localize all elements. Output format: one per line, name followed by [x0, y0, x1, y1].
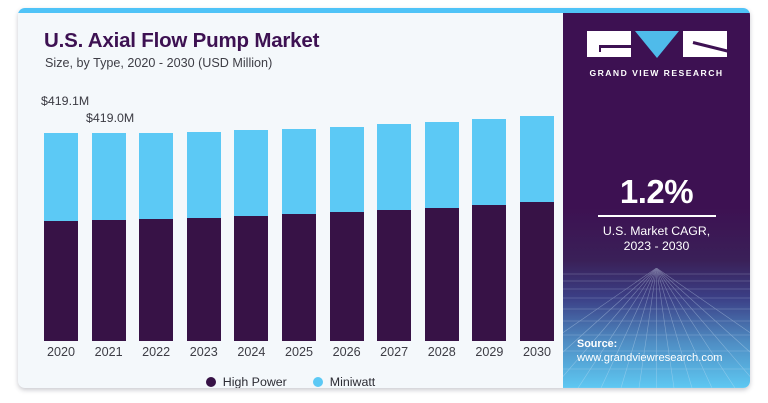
- brand-panel: GRAND VIEW RESEARCH 1.2% U.S. Market CAG…: [563, 13, 750, 388]
- legend-label: High Power: [223, 375, 287, 388]
- bar-segment-miniwatt-2023[interactable]: [187, 132, 221, 218]
- bar-segment-miniwatt-2022[interactable]: [139, 133, 173, 219]
- cagr-caption-line1: U.S. Market CAGR,: [563, 224, 750, 240]
- bar-segment-high-power-2021[interactable]: [92, 220, 126, 341]
- bar-segment-miniwatt-2021[interactable]: [92, 133, 126, 220]
- chart-title: U.S. Axial Flow Pump Market: [44, 29, 319, 53]
- legend-dot-icon: [313, 377, 323, 387]
- bar-segment-high-power-2022[interactable]: [139, 219, 173, 341]
- x-tick-label-2023: 2023: [182, 345, 226, 359]
- perspective-grid-decoration: [563, 268, 750, 388]
- cagr-divider: [598, 215, 716, 217]
- value-label-2020: $419.1M: [41, 94, 89, 108]
- bar-2022[interactable]: [139, 133, 173, 341]
- bar-segment-miniwatt-2028[interactable]: [425, 122, 459, 208]
- x-tick-label-2027: 2027: [372, 345, 416, 359]
- bar-segment-high-power-2029[interactable]: [472, 205, 506, 341]
- x-tick-label-2030: 2030: [515, 345, 559, 359]
- bar-2030[interactable]: [520, 116, 554, 341]
- infographic-card: U.S. Axial Flow Pump Market Size, by Typ…: [18, 8, 750, 388]
- logo-v-triangle-icon: [635, 31, 679, 58]
- bar-segment-miniwatt-2020[interactable]: [44, 133, 78, 220]
- bar-2028[interactable]: [425, 122, 459, 341]
- chart-panel: U.S. Axial Flow Pump Market Size, by Typ…: [18, 13, 563, 388]
- chart-plot-area: [44, 113, 554, 341]
- source-label: Source:: [577, 337, 723, 351]
- logo-r-mark-icon: [683, 31, 727, 57]
- x-axis-tick-labels: 2020202120222023202420252026202720282029…: [44, 345, 554, 365]
- bar-segment-miniwatt-2025[interactable]: [282, 129, 316, 215]
- legend-item-high-power[interactable]: High Power: [206, 375, 287, 388]
- x-tick-label-2024: 2024: [229, 345, 273, 359]
- x-tick-label-2021: 2021: [87, 345, 131, 359]
- bar-2027[interactable]: [377, 124, 411, 341]
- grand-view-research-logo: GRAND VIEW RESEARCH: [563, 31, 750, 78]
- chart-subtitle: Size, by Type, 2020 - 2030 (USD Million): [45, 56, 272, 70]
- logo-marks: [563, 31, 750, 61]
- x-tick-label-2025: 2025: [277, 345, 321, 359]
- bar-segment-high-power-2027[interactable]: [377, 210, 411, 341]
- bar-2024[interactable]: [234, 130, 268, 341]
- bar-segment-miniwatt-2029[interactable]: [472, 119, 506, 205]
- legend-label: Miniwatt: [330, 375, 375, 388]
- bar-segment-miniwatt-2026[interactable]: [330, 127, 364, 213]
- bar-2021[interactable]: [92, 133, 126, 341]
- bar-2020[interactable]: [44, 133, 78, 341]
- bar-2023[interactable]: [187, 132, 221, 341]
- x-tick-label-2029: 2029: [467, 345, 511, 359]
- bar-segment-high-power-2023[interactable]: [187, 218, 221, 341]
- x-tick-label-2028: 2028: [420, 345, 464, 359]
- bar-segment-high-power-2026[interactable]: [330, 212, 364, 341]
- bar-segment-high-power-2025[interactable]: [282, 214, 316, 341]
- logo-wordmark: GRAND VIEW RESEARCH: [563, 68, 750, 78]
- legend-item-miniwatt[interactable]: Miniwatt: [313, 375, 375, 388]
- bar-segment-miniwatt-2027[interactable]: [377, 124, 411, 210]
- bar-segment-high-power-2020[interactable]: [44, 221, 78, 341]
- bar-segment-miniwatt-2024[interactable]: [234, 130, 268, 216]
- logo-g-mark-icon: [587, 31, 631, 57]
- source-url[interactable]: www.grandviewresearch.com: [577, 351, 723, 366]
- cagr-value: 1.2%: [563, 173, 750, 211]
- legend-dot-icon: [206, 377, 216, 387]
- x-tick-label-2026: 2026: [325, 345, 369, 359]
- bar-2025[interactable]: [282, 129, 316, 341]
- bar-segment-high-power-2024[interactable]: [234, 216, 268, 341]
- bar-segment-high-power-2028[interactable]: [425, 208, 459, 341]
- bar-segment-high-power-2030[interactable]: [520, 202, 554, 341]
- bar-2029[interactable]: [472, 119, 506, 341]
- x-tick-label-2022: 2022: [134, 345, 178, 359]
- x-tick-label-2020: 2020: [39, 345, 83, 359]
- cagr-caption-line2: 2023 - 2030: [563, 239, 750, 255]
- source-block: Source: www.grandviewresearch.com: [577, 337, 723, 366]
- bar-2026[interactable]: [330, 127, 364, 341]
- chart-legend: High PowerMiniwatt: [18, 375, 563, 388]
- cagr-block: 1.2% U.S. Market CAGR, 2023 - 2030: [563, 173, 750, 255]
- bar-segment-miniwatt-2030[interactable]: [520, 116, 554, 203]
